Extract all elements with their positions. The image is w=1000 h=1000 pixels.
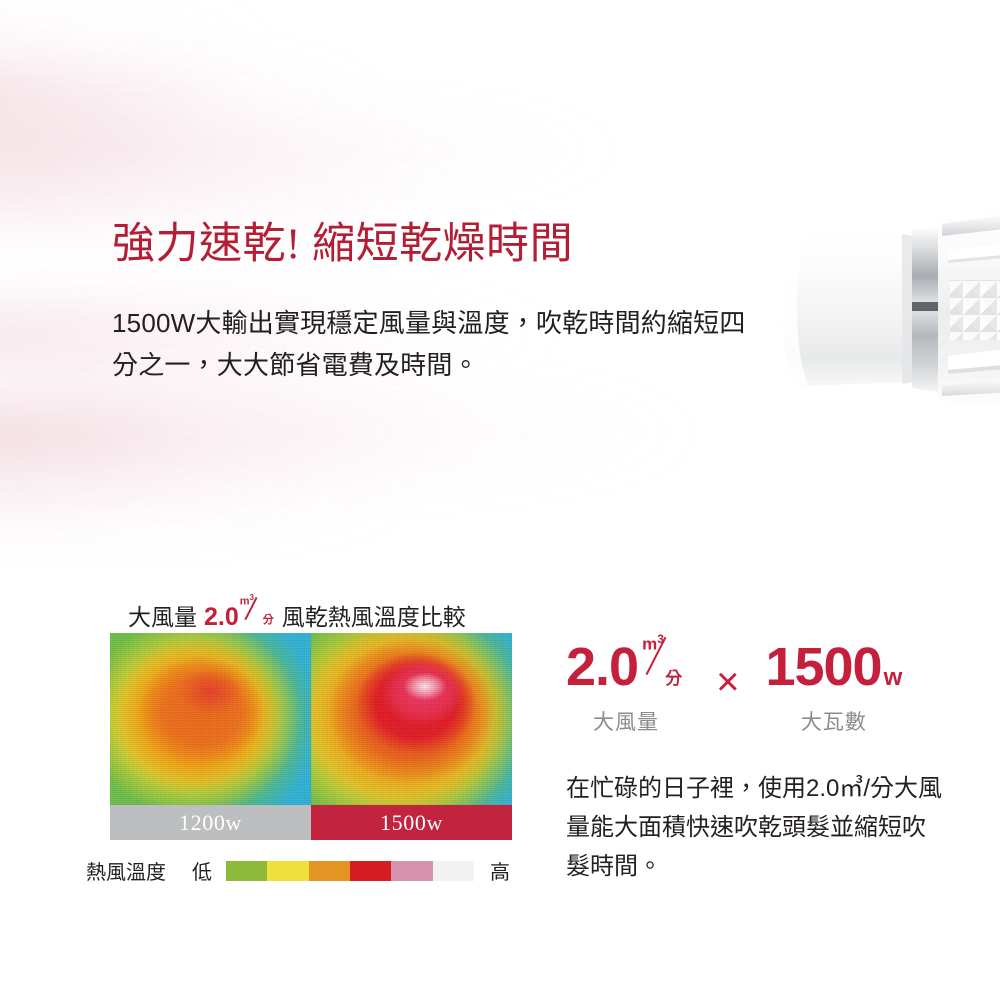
spec-unit-numerator: m: [642, 635, 657, 654]
thermal-panel-label-1200w: 1200w: [110, 805, 311, 840]
legend-title: 熱風溫度: [86, 856, 166, 885]
legend-swatch-3: [309, 861, 350, 881]
legend-swatch-2: [267, 861, 308, 881]
legend-high-label: 高: [490, 856, 510, 885]
spec-airflow-label: 大風量: [566, 706, 686, 736]
product-feature-page: 強力速乾! 縮短乾燥時間 1500W大輸出實現穩定風量與溫度，吹乾時間約縮短四分…: [0, 0, 1000, 1000]
thermal-heatmap-image-1200w: [110, 633, 311, 805]
legend-swatch-4: [350, 861, 391, 881]
hair-dryer-product-image: [742, 196, 1000, 436]
multiply-icon: ×: [716, 662, 739, 702]
temperature-legend: 熱風溫度 低 高: [86, 856, 510, 885]
page-headline: 強力速乾! 縮短乾燥時間: [112, 222, 573, 268]
legend-swatch-6: [433, 861, 474, 881]
legend-color-bar: [226, 861, 474, 881]
thermal-comparison-chart: 1200w 1500w: [110, 633, 512, 840]
thermal-panel-1200w: 1200w: [110, 633, 311, 840]
page-body-copy: 1500W大輸出實現穩定風量與溫度，吹乾時間約縮短四分之一，大大節省電費及時間。: [112, 302, 752, 386]
thermal-heatmap-image-1500w: [311, 633, 512, 805]
chart-caption-tail: 風乾熱風溫度比較: [282, 598, 466, 632]
spec-description-copy: 在忙碌的日子裡，使用2.0㎥/分大風量能大面積快速吹乾頭髮並縮短吹髮時間。: [566, 770, 946, 887]
legend-swatch-1: [226, 861, 267, 881]
thermal-panel-label-1500w: 1500w: [311, 805, 512, 840]
spec-wattage-label: 大瓦數: [765, 706, 902, 736]
spec-wattage: 1500 w 大瓦數: [765, 640, 902, 736]
legend-low-label: 低: [192, 856, 212, 885]
spec-wattage-suffix: w: [884, 666, 903, 690]
spec-wattage-value: 1500: [765, 640, 881, 694]
legend-swatch-5: [391, 861, 432, 881]
unit-numerator: m: [240, 596, 250, 608]
spec-highlight-block: 2.0 m3 分 大風量 × 1500 w 大瓦數: [566, 640, 902, 736]
chart-caption: 大風量 2.0 m3 分 風乾熱風溫度比較: [128, 598, 466, 632]
spec-airflow-value: 2.0: [566, 640, 638, 694]
thermal-panel-1500w: 1500w: [311, 633, 512, 840]
spec-unit-denominator: 分: [665, 670, 682, 687]
unit-denominator: 分: [263, 615, 274, 626]
chart-caption-value: 2.0: [204, 603, 239, 632]
airflow-unit-caption: m3 分: [240, 603, 274, 625]
airflow-unit-spec: m3 分: [642, 655, 682, 685]
chart-caption-prefix: 大風量: [128, 598, 197, 632]
spec-airflow: 2.0 m3 分 大風量: [566, 640, 686, 736]
